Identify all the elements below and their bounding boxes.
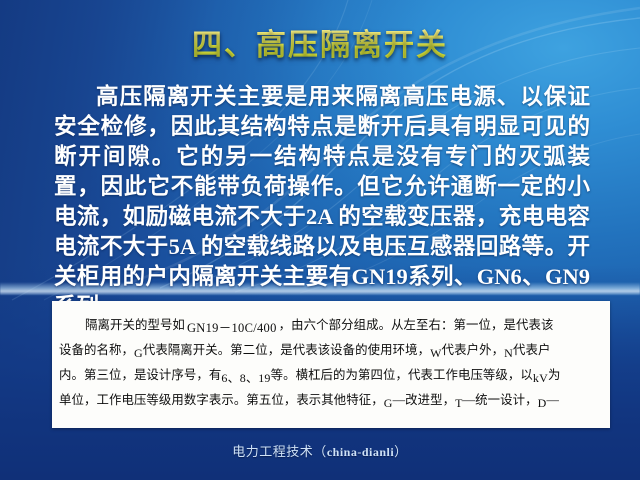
unit-kv: kV (533, 371, 548, 385)
scan-line3-b: 等。横杠后的为第四位，代表工作电压等级，以 (271, 368, 533, 382)
scan-line-3: 内。第三位，是设计序号，有6、8、19等。横杠后的为第四位，代表工作电压等级，以… (59, 363, 603, 388)
scan-line1-b: ，由六个部分组成。从左至右：第一位，是代表该 (279, 318, 554, 332)
scan-line4-d: — (546, 393, 559, 407)
scan-line1-a: 隔离开关的型号如 (85, 318, 185, 332)
scanned-text-box: 隔离开关的型号如GN19－10C/400，由六个部分组成。从左至右：第一位，是代… (52, 301, 610, 428)
scan-line3-a: 内。第三位，是设计序号，有 (59, 368, 221, 382)
footer-cn: 电力工程技术（ (232, 444, 327, 459)
scan-line2-c: 代表户外， (442, 343, 504, 357)
footer-watermark: 电力工程技术（china-dianli） (0, 441, 640, 460)
code-g: G (134, 346, 143, 360)
code-w: W (430, 346, 442, 360)
scan-line3-c: 为 (548, 368, 561, 382)
design-serials: 6、8、19 (221, 371, 270, 385)
footer-cn-end: ） (394, 444, 408, 459)
feature-code-d: D (538, 396, 547, 410)
model-number: GN19－10C/400 (185, 321, 279, 335)
scan-line2-a: 设备的名称， (59, 343, 134, 357)
slide-title: 四、高压隔离开关 (0, 20, 640, 64)
footer-en: china-dianli (327, 445, 394, 459)
feature-code-t: T (455, 396, 463, 410)
scan-line-1: 隔离开关的型号如GN19－10C/400，由六个部分组成。从左至右：第一位，是代… (59, 313, 603, 338)
slide-canvas: 四、高压隔离开关 高压隔离开关主要是用来隔离高压电源、以保证安全检修，因此其结构… (0, 0, 640, 480)
scan-line2-b: 代表隔离开关。第二位，是代表该设备的使用环境， (143, 343, 430, 357)
scan-line2-d: 代表户 (513, 343, 550, 357)
scan-line-4: 单位，工作电压等级用数字表示。第五位，表示其他特征，G—改进型，T—统一设计，D… (59, 388, 603, 413)
scan-line4-a: 单位，工作电压等级用数字表示。第五位，表示其他特征， (59, 393, 384, 407)
scan-line-2: 设备的名称，G代表隔离开关。第二位，是代表该设备的使用环境，W代表户外，N代表户 (59, 338, 603, 363)
scanned-text-content: 隔离开关的型号如GN19－10C/400，由六个部分组成。从左至右：第一位，是代… (52, 301, 610, 413)
scan-line4-b: —改进型， (393, 393, 455, 407)
scan-line4-c: —统一设计， (463, 393, 538, 407)
feature-code-g: G (384, 396, 393, 410)
code-n: N (504, 346, 513, 360)
body-paragraph: 高压隔离开关主要是用来隔离高压电源、以保证安全检修，因此其结构特点是断开后具有明… (54, 82, 590, 322)
